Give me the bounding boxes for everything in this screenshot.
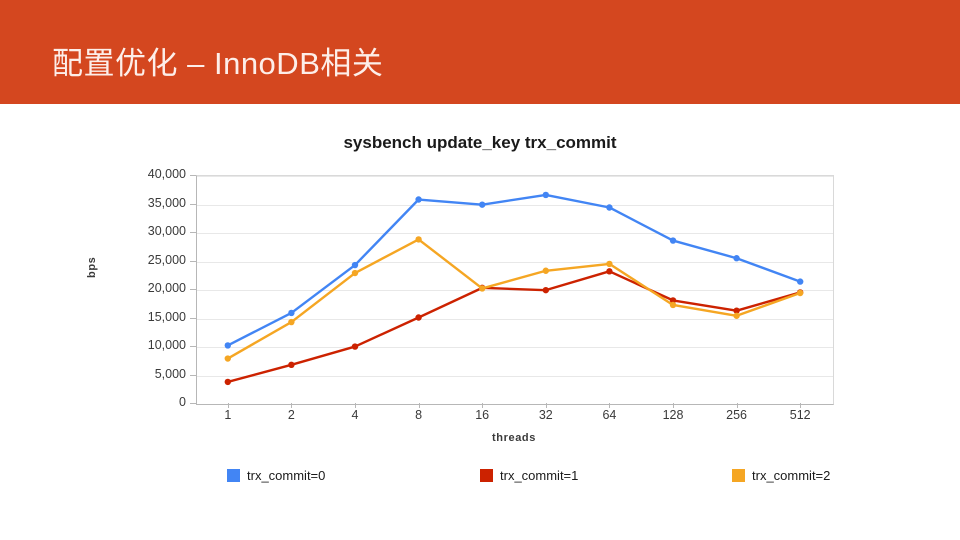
series-point <box>479 201 485 207</box>
legend-label: trx_commit=0 <box>247 468 325 483</box>
series-point <box>352 343 358 349</box>
series-point <box>288 319 294 325</box>
x-axis-tick-label: 512 <box>770 408 830 422</box>
series-line <box>228 195 800 345</box>
series-point <box>797 290 803 296</box>
legend-item[interactable]: trx_commit=1 <box>480 465 578 485</box>
x-axis-tick-label: 128 <box>643 408 703 422</box>
series-lines <box>196 175 832 403</box>
legend-item[interactable]: trx_commit=2 <box>732 465 830 485</box>
x-axis-tick-mark <box>419 403 420 408</box>
x-axis-tick-label: 4 <box>325 408 385 422</box>
chart-title: sysbench update_key trx_commit <box>100 133 860 153</box>
legend-label: trx_commit=1 <box>500 468 578 483</box>
y-axis-label: bps <box>86 257 98 278</box>
series-point <box>606 261 612 267</box>
x-axis-tick-label: 256 <box>707 408 767 422</box>
series-line <box>228 239 800 358</box>
y-axis-tick-label: 10,000 <box>114 338 186 352</box>
page-title: 配置优化 – InnoDB相关 <box>52 44 383 84</box>
x-axis-tick-mark <box>609 403 610 408</box>
series-point <box>733 255 739 261</box>
slide-header-bar: 配置优化 – InnoDB相关 <box>0 0 960 104</box>
series-point <box>225 355 231 361</box>
series-point <box>415 314 421 320</box>
legend-label: trx_commit=2 <box>752 468 830 483</box>
series-point <box>352 270 358 276</box>
series-point <box>415 196 421 202</box>
series-point <box>733 313 739 319</box>
y-axis-tick-label: 15,000 <box>114 310 186 324</box>
y-axis-tick-mark <box>190 403 196 404</box>
series-point <box>225 379 231 385</box>
y-axis-tick-label: 25,000 <box>114 253 186 267</box>
x-axis-tick-mark <box>800 403 801 408</box>
series-point <box>670 237 676 243</box>
x-axis-tick-label: 8 <box>389 408 449 422</box>
x-axis-tick-label: 2 <box>261 408 321 422</box>
x-axis-tick-label: 32 <box>516 408 576 422</box>
x-axis-tick-label: 1 <box>198 408 258 422</box>
series-point <box>352 262 358 268</box>
chart-container: sysbench update_key trx_commit bps threa… <box>100 120 860 520</box>
x-axis-tick-mark <box>355 403 356 408</box>
series-point <box>288 362 294 368</box>
legend-swatch-icon <box>732 469 745 482</box>
series-point <box>670 302 676 308</box>
series-point <box>797 278 803 284</box>
y-axis-tick-label: 40,000 <box>114 167 186 181</box>
chart-legend: trx_commit=0trx_commit=1trx_commit=2 <box>122 465 860 495</box>
legend-swatch-icon <box>227 469 240 482</box>
slide: 配置优化 – InnoDB相关 sysbench update_key trx_… <box>0 0 960 540</box>
y-axis-tick-label: 20,000 <box>114 281 186 295</box>
x-axis-tick-mark <box>673 403 674 408</box>
series-point <box>415 236 421 242</box>
x-axis-label: threads <box>196 432 832 444</box>
legend-item[interactable]: trx_commit=0 <box>227 465 325 485</box>
series-point <box>606 204 612 210</box>
x-axis-tick-mark <box>291 403 292 408</box>
x-axis-tick-label: 64 <box>579 408 639 422</box>
y-axis-tick-label: 35,000 <box>114 196 186 210</box>
legend-swatch-icon <box>480 469 493 482</box>
x-axis-tick-mark <box>737 403 738 408</box>
series-point <box>543 287 549 293</box>
y-axis-tick-label: 5,000 <box>114 367 186 381</box>
y-axis-tick-label: 30,000 <box>114 224 186 238</box>
series-point <box>543 192 549 198</box>
y-axis-tick-label: 0 <box>114 395 186 409</box>
series-line <box>228 271 800 382</box>
x-axis-tick-mark <box>546 403 547 408</box>
x-axis-tick-label: 16 <box>452 408 512 422</box>
series-point <box>225 342 231 348</box>
series-point <box>606 268 612 274</box>
x-axis-tick-mark <box>482 403 483 408</box>
series-point <box>543 268 549 274</box>
x-axis-tick-mark <box>228 403 229 408</box>
series-point <box>288 310 294 316</box>
series-point <box>479 285 485 291</box>
